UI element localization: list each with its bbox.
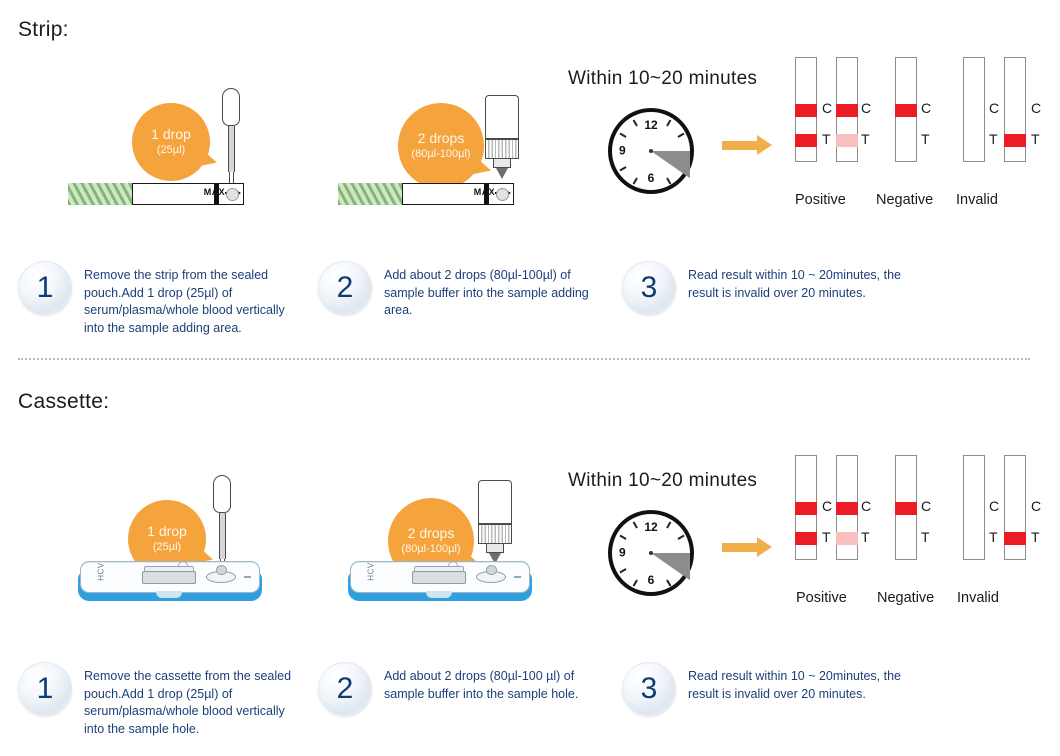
test-letter: T	[989, 529, 998, 545]
test-letter: T	[822, 529, 831, 545]
buffer-bottle-icon	[478, 480, 512, 564]
cassette-brand-label: HCV	[97, 562, 106, 580]
control-band	[895, 502, 917, 515]
test-letter: T	[921, 131, 930, 147]
test-strip-device-1: MAX	[68, 183, 253, 205]
cassette-result-window	[142, 571, 196, 584]
step-description: Remove the cassette from the sealed pouc…	[84, 662, 308, 738]
result-strip-positive-a	[795, 455, 817, 560]
cassette-step-1: 1 Remove the cassette from the sealed po…	[18, 662, 308, 738]
strip-sample-well	[226, 188, 239, 201]
step-number-badge: 2	[318, 662, 372, 716]
flow-arrow-icon	[722, 141, 758, 150]
control-letter: C	[921, 498, 931, 514]
pipette-neck	[228, 126, 235, 172]
bubble-line-1: 1 drop	[151, 126, 191, 143]
test-letter: T	[989, 131, 998, 147]
clock-tick	[620, 568, 627, 573]
pipette-bulb	[222, 88, 240, 126]
control-letter: C	[822, 100, 832, 116]
bubble-line-1: 1 drop	[147, 523, 187, 540]
test-letter: T	[861, 529, 870, 545]
bubble-line-2: (25µl)	[153, 540, 181, 555]
clock-icon: 12 9 6	[608, 108, 694, 194]
clock-tick	[666, 177, 671, 184]
test-band	[795, 134, 817, 147]
strip-section-title: Strip:	[18, 18, 69, 42]
test-band	[795, 532, 817, 545]
bottle-body	[485, 95, 519, 139]
bubble-tail-icon	[199, 151, 219, 171]
clock-tick	[677, 133, 684, 138]
cassette-step-2: 2 Add about 2 drops (80µl-100 µl) of sam…	[318, 662, 588, 716]
control-letter: C	[921, 100, 931, 116]
result-strip-invalid-a	[963, 455, 985, 560]
control-band	[795, 104, 817, 117]
test-strip-device-2: MAX	[338, 183, 523, 205]
clock-number-6: 6	[648, 573, 655, 587]
step-number-badge: 3	[622, 261, 676, 315]
test-letter: T	[921, 529, 930, 545]
result-label-invalid: Invalid	[956, 192, 998, 208]
test-letter: T	[1031, 131, 1040, 147]
result-label-negative: Negative	[876, 192, 933, 208]
flow-arrow-icon	[722, 543, 758, 552]
bubble-line-1: 2 drops	[408, 525, 455, 542]
buffer-bottle-icon	[485, 95, 519, 179]
clock-elapsed-wedge	[651, 553, 690, 592]
bubble-line-1: 2 drops	[418, 130, 465, 147]
step-description: Add about 2 drops (80µl-100µl) of sample…	[384, 261, 598, 320]
cassette-pin-icon	[178, 561, 188, 567]
clock-hub	[649, 551, 653, 555]
bubble-line-2: (80µl-100µl)	[411, 147, 470, 162]
sealed-pouch-icon	[338, 183, 404, 205]
clock-number-12: 12	[644, 520, 657, 534]
strip-drop-bubble-2: 2 drops (80µl-100µl)	[398, 103, 484, 189]
clock-tick	[633, 178, 638, 185]
cassette-section: Cassette: 1 drop (25µl) HCV 2 dro	[0, 370, 1060, 756]
control-letter: C	[989, 100, 999, 116]
cassette-timing-title: Within 10~20 minutes	[568, 470, 757, 492]
cassette-notch	[156, 591, 182, 598]
bottle-nozzle	[496, 168, 508, 179]
control-band	[836, 502, 858, 515]
strip-black-bar	[484, 183, 489, 205]
clock-tick	[677, 535, 684, 540]
strip-step-3: 3 Read result within 10 ~ 20minutes, the…	[622, 261, 922, 315]
cassette-brand-label: HCV	[367, 562, 376, 580]
result-strip-positive-a	[795, 57, 817, 162]
clock-tick	[633, 580, 638, 587]
clock-number-9: 9	[619, 545, 626, 559]
test-letter: T	[861, 131, 870, 147]
cassette-sample-drop	[486, 565, 497, 575]
clock-tick	[633, 120, 638, 127]
bottle-body	[478, 480, 512, 524]
pipette-neck	[219, 513, 226, 559]
cassette-tick-icon	[514, 576, 521, 578]
strip-section: Strip: 1 drop (25µl) MAX 2 drops (80µl-1…	[0, 0, 1060, 358]
result-label-invalid: Invalid	[957, 590, 999, 606]
test-letter: T	[822, 131, 831, 147]
clock-number-6: 6	[648, 171, 655, 185]
result-strip-negative	[895, 57, 917, 162]
test-band-faint	[836, 134, 858, 147]
clock-tick	[620, 166, 627, 171]
clock-tick	[666, 119, 671, 126]
test-band	[1004, 532, 1026, 545]
cassette-sample-drop	[216, 565, 227, 575]
step-description: Read result within 10 ~ 20minutes, the r…	[688, 261, 922, 302]
control-letter: C	[822, 498, 832, 514]
cassette-device-1: HCV	[78, 555, 262, 601]
cassette-pin-icon	[448, 561, 458, 567]
cassette-result-window	[412, 571, 466, 584]
clock-icon: 12 9 6	[608, 510, 694, 596]
strip-timing-title: Within 10~20 minutes	[568, 68, 757, 90]
clock-number-12: 12	[644, 118, 657, 132]
result-strip-positive-b	[836, 455, 858, 560]
cassette-tick-icon	[244, 576, 251, 578]
cassette-section-title: Cassette:	[18, 390, 109, 414]
bottle-cap	[485, 139, 519, 159]
bubble-line-2: (25µl)	[157, 143, 185, 158]
result-strip-positive-b	[836, 57, 858, 162]
sealed-pouch-icon	[68, 183, 134, 205]
clock-tick	[619, 133, 626, 138]
control-letter: C	[861, 498, 871, 514]
clock-hub	[649, 149, 653, 153]
clock-tick	[666, 521, 671, 528]
step-description: Remove the strip from the sealed pouch.A…	[84, 261, 308, 337]
control-letter: C	[989, 498, 999, 514]
test-band	[1004, 134, 1026, 147]
result-strip-invalid-b	[1004, 455, 1026, 560]
test-band-faint	[836, 532, 858, 545]
cassette-notch	[426, 591, 452, 598]
pipette-bulb	[213, 475, 231, 513]
cassette-device-2: HCV	[348, 555, 532, 601]
clock-tick	[666, 579, 671, 586]
control-letter: C	[1031, 100, 1041, 116]
bottle-cap	[478, 524, 512, 544]
strip-sample-well	[496, 188, 509, 201]
strip-step-2: 2 Add about 2 drops (80µl-100µl) of samp…	[318, 261, 598, 320]
result-strip-invalid-b	[1004, 57, 1026, 162]
bottle-neck	[493, 159, 511, 168]
bottle-neck	[486, 544, 504, 553]
strip-drop-bubble-1: 1 drop (25µl)	[132, 103, 210, 181]
result-label-negative: Negative	[877, 590, 934, 606]
result-strip-negative	[895, 455, 917, 560]
clock-number-9: 9	[619, 143, 626, 157]
cassette-step-3: 3 Read result within 10 ~ 20minutes, the…	[622, 662, 922, 716]
control-band	[895, 104, 917, 117]
control-band	[795, 502, 817, 515]
result-label-positive: Positive	[796, 590, 847, 606]
step-description: Read result within 10 ~ 20minutes, the r…	[688, 662, 922, 703]
pipette-icon	[222, 88, 240, 186]
step-number-badge: 3	[622, 662, 676, 716]
clock-elapsed-wedge	[651, 151, 690, 190]
step-number-badge: 2	[318, 261, 372, 315]
strip-black-bar	[214, 183, 219, 205]
test-letter: T	[1031, 529, 1040, 545]
clock-tick	[633, 522, 638, 529]
control-letter: C	[1031, 498, 1041, 514]
step-description: Add about 2 drops (80µl-100 µl) of sampl…	[384, 662, 588, 703]
step-number-badge: 1	[18, 662, 72, 716]
strip-step-1: 1 Remove the strip from the sealed pouch…	[18, 261, 308, 337]
section-divider	[18, 358, 1030, 360]
result-strip-invalid-a	[963, 57, 985, 162]
control-band	[836, 104, 858, 117]
result-label-positive: Positive	[795, 192, 846, 208]
step-number-badge: 1	[18, 261, 72, 315]
clock-tick	[619, 535, 626, 540]
control-letter: C	[861, 100, 871, 116]
